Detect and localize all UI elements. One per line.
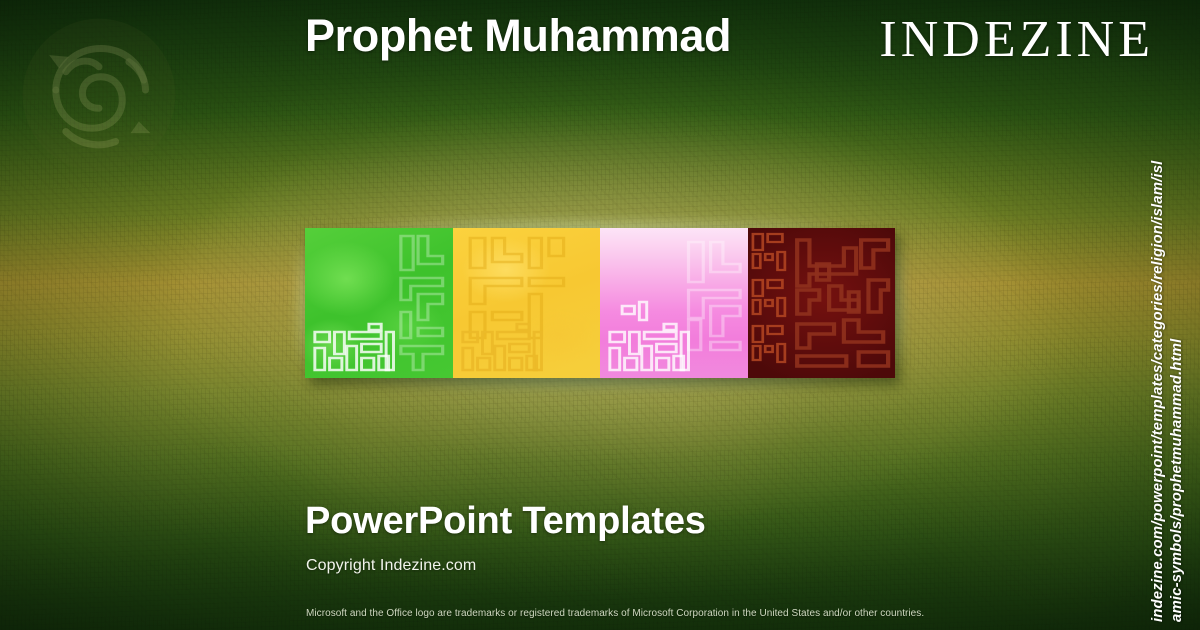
darkred-kufic-thumbnail[interactable]	[748, 228, 896, 378]
kufic-pattern-icon	[748, 228, 896, 378]
kufic-pattern-icon	[600, 228, 748, 378]
brand-wordmark: INDEZINE	[879, 14, 1154, 66]
template-thumbnail-strip	[305, 228, 895, 378]
page-title: Prophet Muhammad	[305, 11, 865, 61]
slide-canvas: Prophet Muhammad INDEZINE indezine.com/p…	[0, 0, 1200, 630]
pink-kufic-thumbnail[interactable]	[600, 228, 748, 378]
trademark-disclaimer: Microsoft and the Office logo are tradem…	[306, 608, 924, 619]
url-watermark-line-2: amic-symbols/prophetmuhammad.html	[1168, 339, 1185, 622]
url-watermark-line-1: indezine.com/powerpoint/templates/catego…	[1149, 161, 1166, 622]
page-subtitle: PowerPoint Templates	[305, 500, 706, 543]
kufic-pattern-icon	[305, 228, 453, 378]
kufic-pattern-icon	[453, 228, 601, 378]
copyright-text: Copyright Indezine.com	[306, 557, 476, 575]
yellow-kufic-thumbnail[interactable]	[453, 228, 601, 378]
swirl-ornament-icon	[16, 12, 182, 178]
url-watermark: indezine.com/powerpoint/templates/catego…	[1150, 0, 1200, 630]
green-kufic-thumbnail[interactable]	[305, 228, 453, 378]
